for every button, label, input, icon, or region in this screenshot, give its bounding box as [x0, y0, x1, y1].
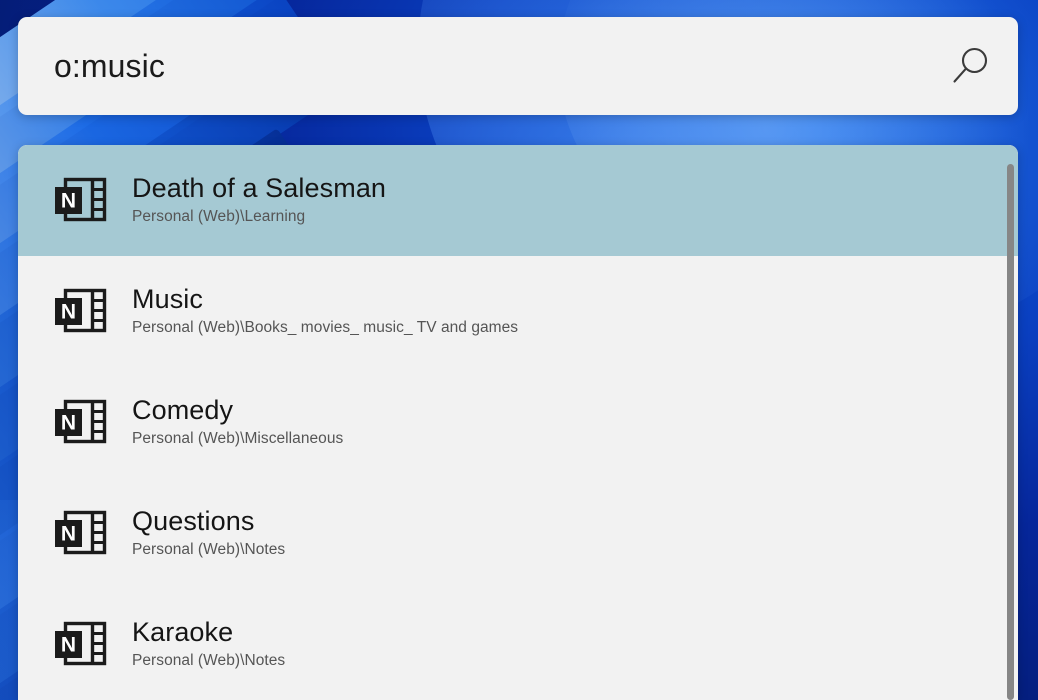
result-row[interactable]: N Death of a SalesmanPersonal (Web)\Lear…	[18, 145, 1018, 256]
result-text: KaraokePersonal (Web)\Notes	[132, 617, 285, 673]
search-input[interactable]: o:music	[18, 50, 922, 82]
onenote-icon: N	[54, 620, 132, 670]
onenote-icon: N	[54, 398, 132, 448]
result-text: MusicPersonal (Web)\Books_ movies_ music…	[132, 284, 518, 340]
search-results-panel[interactable]: N Death of a SalesmanPersonal (Web)\Lear…	[18, 145, 1018, 700]
scrollbar-thumb[interactable]	[1007, 164, 1014, 700]
desktop-wallpaper: o:music N Death of a SalesmanPersonal (W…	[0, 0, 1038, 700]
result-text: QuestionsPersonal (Web)\Notes	[132, 506, 285, 562]
result-row[interactable]: N QuestionsPersonal (Web)\Notes	[18, 478, 1018, 589]
result-subtitle: Personal (Web)\Books_ movies_ music_ TV …	[132, 317, 518, 339]
svg-text:N: N	[61, 189, 76, 212]
result-text: Death of a SalesmanPersonal (Web)\Learni…	[132, 173, 386, 229]
result-row[interactable]: N KaraokePersonal (Web)\Notes	[18, 589, 1018, 700]
result-title: Karaoke	[132, 617, 285, 647]
result-subtitle: Personal (Web)\Learning	[132, 206, 386, 228]
svg-text:N: N	[61, 411, 76, 434]
onenote-icon: N	[54, 509, 132, 559]
result-title: Questions	[132, 506, 285, 536]
svg-text:N: N	[61, 522, 76, 545]
result-subtitle: Personal (Web)\Miscellaneous	[132, 428, 343, 450]
result-row[interactable]: N MusicPersonal (Web)\Books_ movies_ mus…	[18, 256, 1018, 367]
results-list: N Death of a SalesmanPersonal (Web)\Lear…	[18, 145, 1018, 700]
onenote-icon: N	[54, 287, 132, 337]
svg-text:N: N	[61, 633, 76, 656]
result-title: Music	[132, 284, 518, 314]
search-bar[interactable]: o:music	[18, 17, 1018, 115]
result-title: Comedy	[132, 395, 343, 425]
result-title: Death of a Salesman	[132, 173, 386, 203]
result-row[interactable]: N ComedyPersonal (Web)\Miscellaneous	[18, 367, 1018, 478]
result-subtitle: Personal (Web)\Notes	[132, 539, 285, 561]
onenote-icon: N	[54, 176, 132, 226]
result-text: ComedyPersonal (Web)\Miscellaneous	[132, 395, 343, 451]
results-scrollbar[interactable]	[1007, 164, 1014, 700]
search-icon[interactable]	[922, 43, 1018, 89]
result-subtitle: Personal (Web)\Notes	[132, 650, 285, 672]
svg-text:N: N	[61, 300, 76, 323]
